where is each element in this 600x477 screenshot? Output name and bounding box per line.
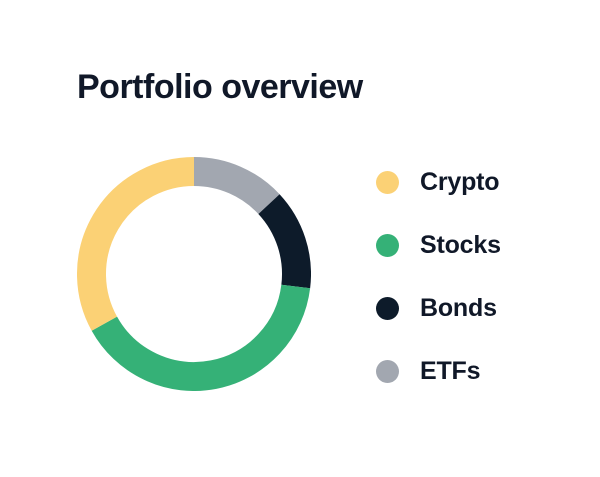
portfolio-overview-card: Portfolio overview CryptoStocksBondsETFs [0, 0, 600, 477]
legend-item-stocks[interactable]: Stocks [376, 230, 556, 260]
legend-swatch-bonds-icon [376, 297, 399, 320]
legend-item-label: Stocks [420, 231, 501, 259]
donut-chart-svg [77, 157, 311, 391]
legend-swatch-etfs-icon [376, 360, 399, 383]
donut-slice-etfs[interactable] [194, 172, 269, 205]
legend-swatch-crypto-icon [376, 171, 399, 194]
donut-slice-bonds[interactable] [269, 204, 297, 286]
donut-slice-crypto[interactable] [91, 172, 194, 324]
donut-slice-group [91, 172, 296, 377]
legend-item-etfs[interactable]: ETFs [376, 356, 556, 386]
donut-chart [77, 157, 311, 391]
legend-swatch-stocks-icon [376, 234, 399, 257]
chart-legend: CryptoStocksBondsETFs [376, 167, 556, 386]
donut-slice-stocks[interactable] [104, 286, 295, 376]
page-title: Portfolio overview [77, 66, 363, 108]
legend-item-label: Bonds [420, 294, 497, 322]
legend-item-label: ETFs [420, 357, 480, 385]
legend-item-crypto[interactable]: Crypto [376, 167, 556, 197]
legend-item-label: Crypto [420, 168, 499, 196]
legend-item-bonds[interactable]: Bonds [376, 293, 556, 323]
